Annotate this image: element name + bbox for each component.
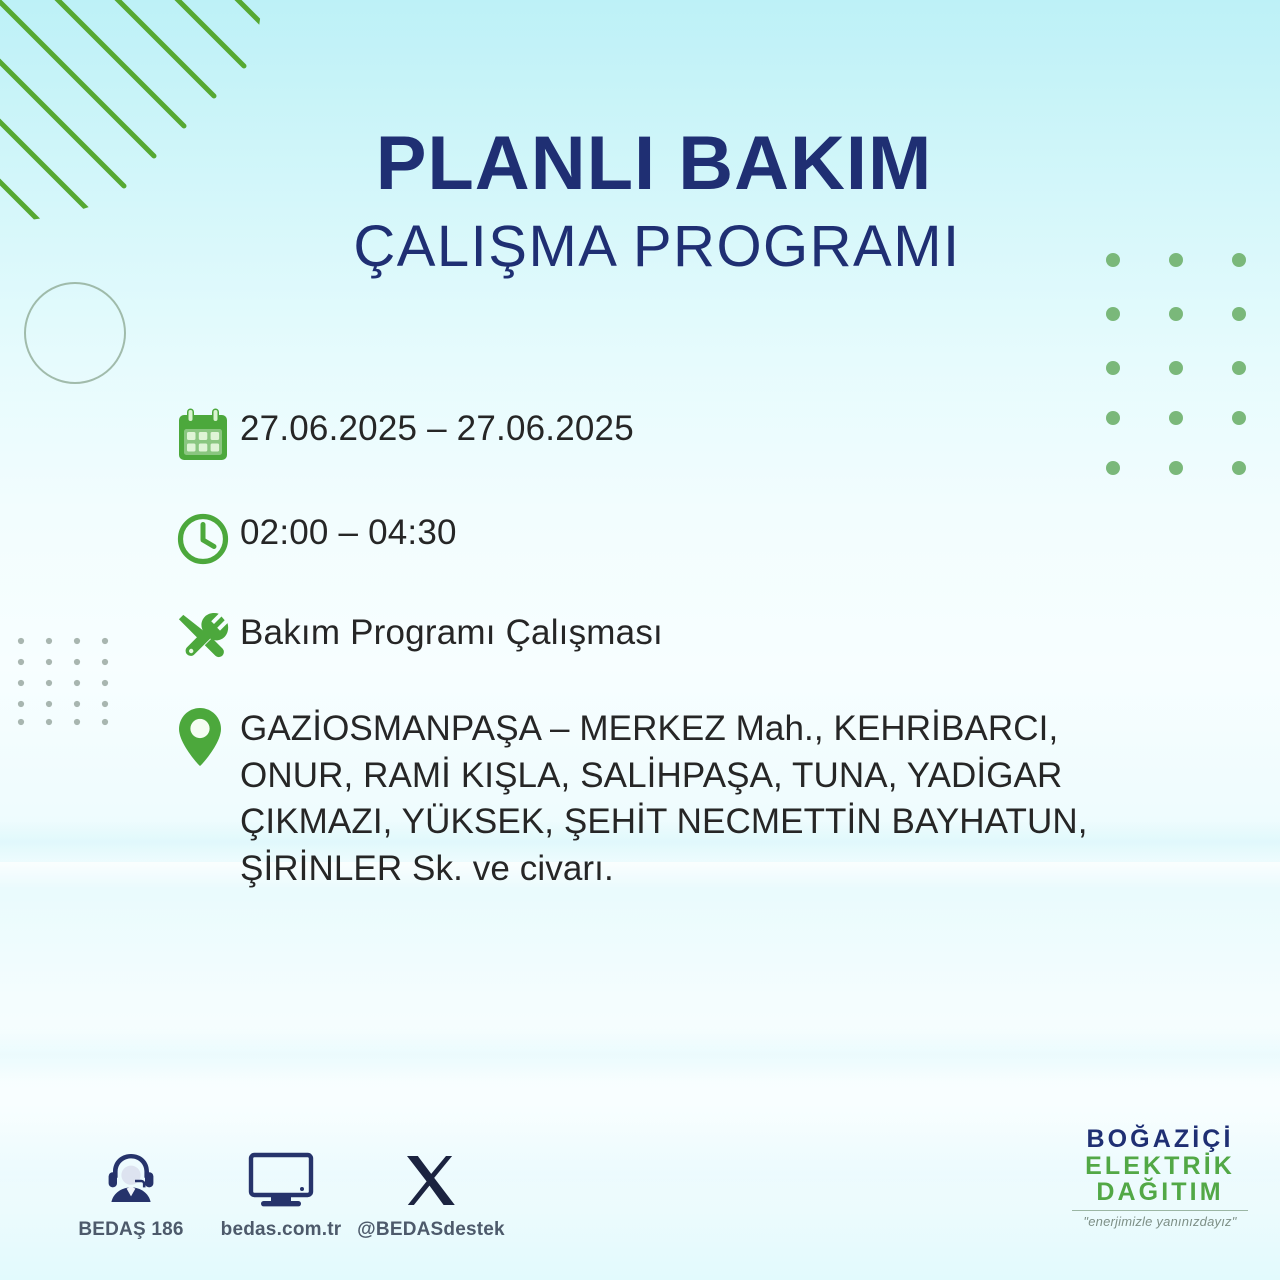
footer-contacts: BEDAŞ 186 bedas.com.tr @BEDASdestek (56, 1144, 506, 1241)
contact-x-account[interactable]: @BEDASdestek (356, 1144, 506, 1241)
monitor-icon (206, 1144, 356, 1210)
dot-grid-decoration-left (16, 636, 116, 726)
map-pin-icon (176, 704, 240, 770)
detail-row-date: 27.06.2025 – 27.06.2025 (176, 404, 1236, 466)
calendar-icon (176, 404, 240, 466)
poster-canvas: PLANLI BAKIM ÇALIŞMA PROGRAMI (0, 0, 1280, 1280)
location-line: ÇIKMAZI, YÜKSEK, ŞEHİT NECMETTİN BAYHATU… (240, 799, 1088, 846)
background-band (0, 1028, 1280, 1082)
page-title: PLANLI BAKIM (0, 126, 1280, 202)
maintenance-details: 27.06.2025 – 27.06.2025 02:00 – 04:30 (176, 404, 1236, 892)
brand-line-bogazici: BOĞAZİÇİ (1062, 1126, 1258, 1153)
location-line: ONUR, RAMİ KIŞLA, SALİHPAŞA, TUNA, YADİG… (240, 753, 1088, 800)
brand-line-elektrik: ELEKTRİK (1062, 1153, 1258, 1180)
brand-line-dagitim: DAĞITIM (1062, 1179, 1258, 1206)
detail-row-location: GAZİOSMANPAŞA – MERKEZ Mah., KEHRİBARCI,… (176, 704, 1236, 892)
contact-website[interactable]: bedas.com.tr (206, 1144, 356, 1241)
time-range-value: 02:00 – 04:30 (240, 508, 1236, 552)
x-twitter-icon (356, 1144, 506, 1210)
location-line: GAZİOSMANPAŞA – MERKEZ Mah., KEHRİBARCI, (240, 706, 1088, 753)
work-type-value: Bakım Programı Çalışması (240, 608, 1236, 652)
brand-divider (1072, 1210, 1248, 1211)
location-line: ŞİRİNLER Sk. ve civarı. (240, 846, 1088, 893)
page-subtitle: ÇALIŞMA PROGRAMI (0, 218, 1280, 276)
detail-row-time: 02:00 – 04:30 (176, 508, 1236, 570)
date-range-value: 27.06.2025 – 27.06.2025 (240, 404, 1236, 448)
brand-logo: BOĞAZİÇİ ELEKTRİK DAĞITIM "enerjimizle y… (1062, 1126, 1258, 1229)
brand-tagline: "enerjimizle yanınızdayız" (1062, 1214, 1258, 1229)
contact-label: BEDAŞ 186 (56, 1219, 206, 1241)
poster-title-block: PLANLI BAKIM ÇALIŞMA PROGRAMI (0, 126, 1280, 276)
contact-label: @BEDASdestek (356, 1219, 506, 1241)
detail-row-work-type: Bakım Programı Çalışması (176, 608, 1236, 670)
contact-call-center[interactable]: BEDAŞ 186 (56, 1144, 206, 1241)
headset-support-icon (56, 1144, 206, 1210)
circle-outline-decoration (24, 282, 126, 384)
clock-icon (176, 508, 240, 570)
contact-label: bedas.com.tr (206, 1219, 356, 1241)
location-value: GAZİOSMANPAŞA – MERKEZ Mah., KEHRİBARCI,… (240, 704, 1088, 892)
tools-icon (176, 608, 240, 670)
